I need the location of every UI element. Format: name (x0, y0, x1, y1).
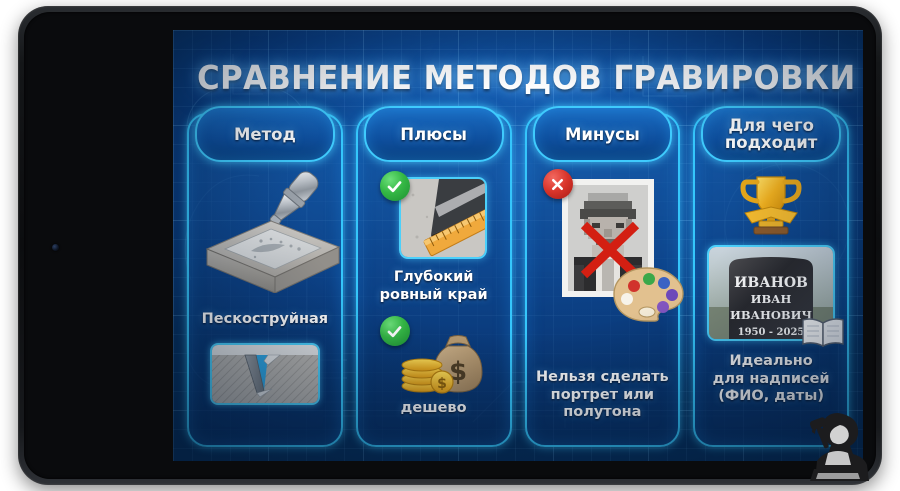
sandblasting-illustration (189, 167, 341, 307)
column-cons[interactable]: Минусы (525, 113, 681, 447)
pro-1-label: Глубокий ровный край (380, 269, 488, 304)
trophy-icon (735, 171, 807, 237)
stonemason-logo (808, 403, 870, 481)
ruler-edge-icon (399, 177, 487, 259)
column-suitable-for[interactable]: Для чего подходит (693, 113, 849, 447)
column-method[interactable]: Метод (187, 113, 343, 447)
paint-palette-icon (611, 265, 685, 323)
column-body-method: Пескоструйная (189, 165, 341, 437)
svg-text:1950 - 2025: 1950 - 2025 (738, 327, 805, 338)
groove-cross-section-icon (210, 343, 320, 405)
column-header-suitable-for: Для чего подходит (701, 106, 841, 162)
column-pros[interactable]: Плюсы (356, 113, 512, 447)
column-body-pros: Глубокий ровный край (358, 165, 510, 437)
column-header-pros: Плюсы (364, 106, 504, 162)
comparison-table: Метод (187, 113, 849, 447)
pro-item-2: $ $ (358, 316, 510, 398)
pro-item-1 (358, 171, 510, 267)
column-header-label: Плюсы (400, 126, 467, 143)
con-item-1 (527, 165, 679, 361)
screenshot-root: СРАВНЕНИЕ МЕТОДОВ ГРАВИРОВКИ Метод (0, 0, 900, 491)
page-title: СРАВНЕНИЕ МЕТОДОВ ГРАВИРОВКИ (197, 58, 839, 97)
column-body-cons: Нельзя сделать портрет или полутона (527, 165, 679, 437)
check-icon (380, 171, 410, 201)
pro-2-label: дешево (401, 400, 467, 418)
column-header-label: Минусы (565, 126, 640, 143)
front-camera-icon (52, 244, 59, 251)
column-header-label: Для чего подходит (725, 117, 818, 151)
column-header-label: Метод (234, 126, 296, 143)
tablet-device: СРАВНЕНИЕ МЕТОДОВ ГРАВИРОВКИ Метод (18, 6, 882, 485)
column-header-cons: Минусы (533, 106, 673, 162)
con-1-label: Нельзя сделать портрет или полутона (536, 369, 669, 422)
svg-text:$: $ (437, 376, 447, 392)
x-badge-icon (543, 169, 573, 199)
svg-text:ИВАНОВ: ИВАНОВ (734, 275, 808, 291)
money-bag-coins-icon: $ $ (396, 330, 492, 394)
open-book-icon (801, 315, 845, 349)
method-label: Пескоструйная (202, 311, 328, 329)
engraved-stone-slab-icon (195, 215, 347, 293)
slide-screen: СРАВНЕНИЕ МЕТОДОВ ГРАВИРОВКИ Метод (173, 30, 863, 461)
check-icon (380, 316, 410, 346)
suitable-label: Идеально для надписей (ФИО, даты) (713, 353, 830, 406)
column-header-method: Метод (195, 106, 335, 162)
svg-text:ИВАНОВИЧ: ИВАНОВИЧ (730, 308, 812, 322)
svg-text:ИВАН: ИВАН (751, 292, 792, 306)
column-body-suitable-for: ИВАНОВ ИВАН ИВАНОВИЧ 1950 - 2025 (695, 165, 847, 437)
